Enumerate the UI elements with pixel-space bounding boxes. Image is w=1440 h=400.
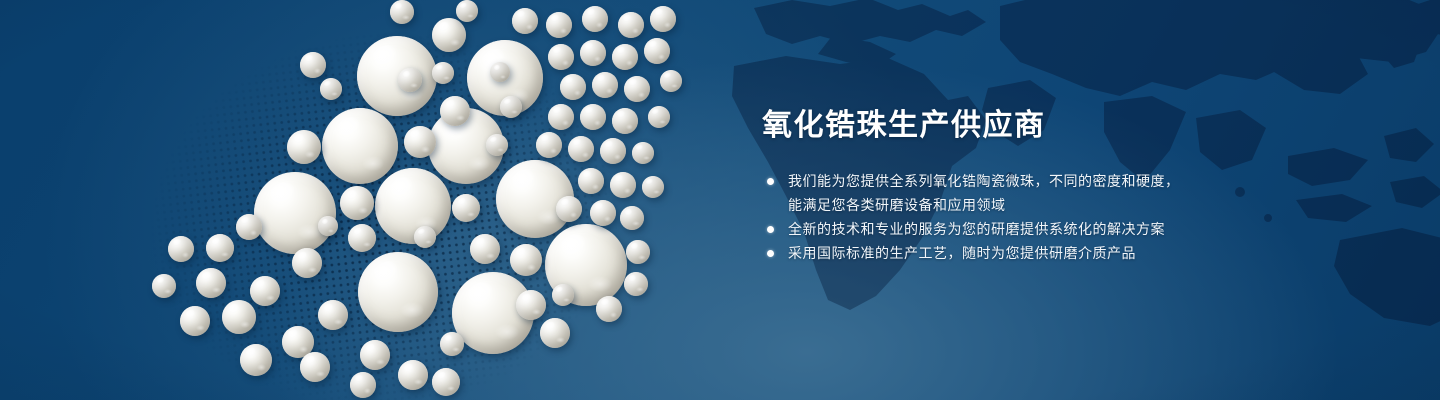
feature-item-1: 我们能为您提供全系列氧化锆陶瓷微珠，不同的密度和硬度， 能满足您各类研磨设备和应… <box>762 169 1322 217</box>
feature-item-3-line1: 采用国际标准的生产工艺，随时为您提供研磨介质产品 <box>788 245 1136 261</box>
feature-item-2: 全新的技术和专业的服务为您的研磨提供系统化的解决方案 <box>762 217 1322 241</box>
bullet-dot-icon <box>767 226 774 233</box>
feature-item-1-line2: 能满足您各类研磨设备和应用领域 <box>788 193 1322 217</box>
hero-banner: 氧化锆珠生产供应商 我们能为您提供全系列氧化锆陶瓷微珠，不同的密度和硬度， 能满… <box>0 0 1440 400</box>
banner-content: 氧化锆珠生产供应商 我们能为您提供全系列氧化锆陶瓷微珠，不同的密度和硬度， 能满… <box>762 108 1322 265</box>
feature-list: 我们能为您提供全系列氧化锆陶瓷微珠，不同的密度和硬度， 能满足您各类研磨设备和应… <box>762 169 1322 265</box>
feature-item-1-line1: 我们能为您提供全系列氧化锆陶瓷微珠，不同的密度和硬度， <box>788 173 1180 189</box>
bullet-dot-icon <box>767 250 774 257</box>
banner-title: 氧化锆珠生产供应商 <box>762 108 1322 143</box>
bullet-dot-icon <box>767 178 774 185</box>
feature-item-3: 采用国际标准的生产工艺，随时为您提供研磨介质产品 <box>762 241 1322 265</box>
feature-item-2-line1: 全新的技术和专业的服务为您的研磨提供系统化的解决方案 <box>788 221 1165 237</box>
